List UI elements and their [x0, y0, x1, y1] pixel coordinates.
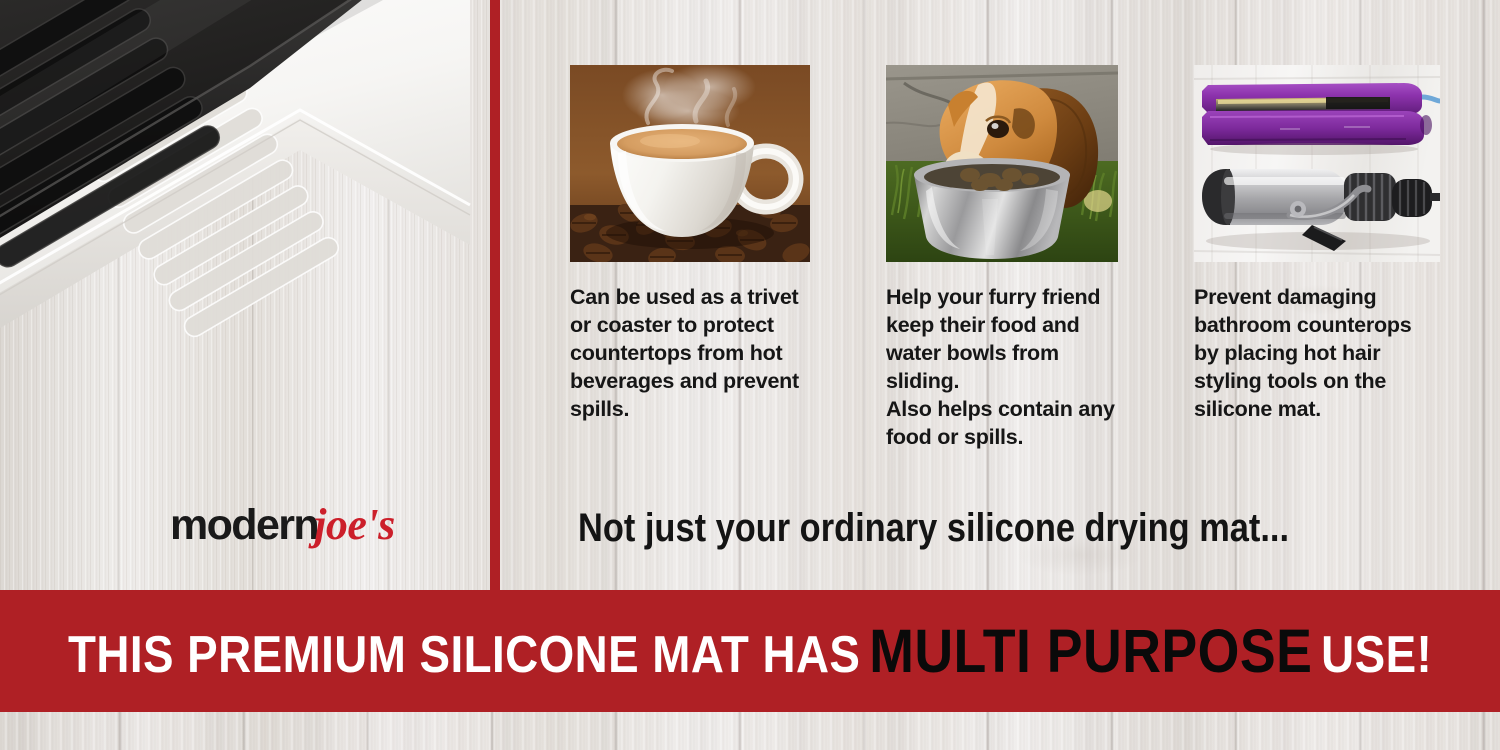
logo-primary-text: modern	[170, 501, 318, 549]
benefits-panel: Can be used as a trivet or coaster to pr…	[500, 0, 1500, 590]
vertical-red-divider	[490, 0, 500, 590]
benefit-card-trivet: Can be used as a trivet or coaster to pr…	[570, 65, 810, 452]
benefit-cards: Can be used as a trivet or coaster to pr…	[570, 65, 1485, 452]
logo-accent-text: joe's	[314, 500, 395, 549]
benefit-caption: Can be used as a trivet or coaster to pr…	[570, 284, 810, 424]
banner-text-part2: USE!	[1321, 629, 1432, 681]
benefit-caption: Prevent damaging bathroom counterops by …	[1194, 284, 1440, 424]
banner-text-part1: THIS PREMIUM SILICONE MAT HAS	[68, 629, 860, 681]
dog-bowl-photo	[886, 65, 1118, 262]
brand-logo: modernjoe's	[170, 503, 395, 547]
benefit-card-pet-bowl: Help your furry friend keep their food a…	[886, 65, 1118, 452]
benefit-caption: Help your furry friend keep their food a…	[886, 284, 1118, 452]
hair-tools-photo	[1194, 65, 1440, 262]
tagline: Not just your ordinary silicone drying m…	[578, 508, 1289, 548]
benefit-card-hair-tools: Prevent damaging bathroom counterops by …	[1194, 65, 1440, 452]
banner-text-highlight: MULTI PURPOSE	[869, 621, 1312, 682]
bottom-banner: THIS PREMIUM SILICONE MAT HAS MULTI PURP…	[0, 590, 1500, 712]
banner-text: THIS PREMIUM SILICONE MAT HAS MULTI PURP…	[68, 621, 1432, 682]
coffee-cup-photo	[570, 65, 810, 262]
